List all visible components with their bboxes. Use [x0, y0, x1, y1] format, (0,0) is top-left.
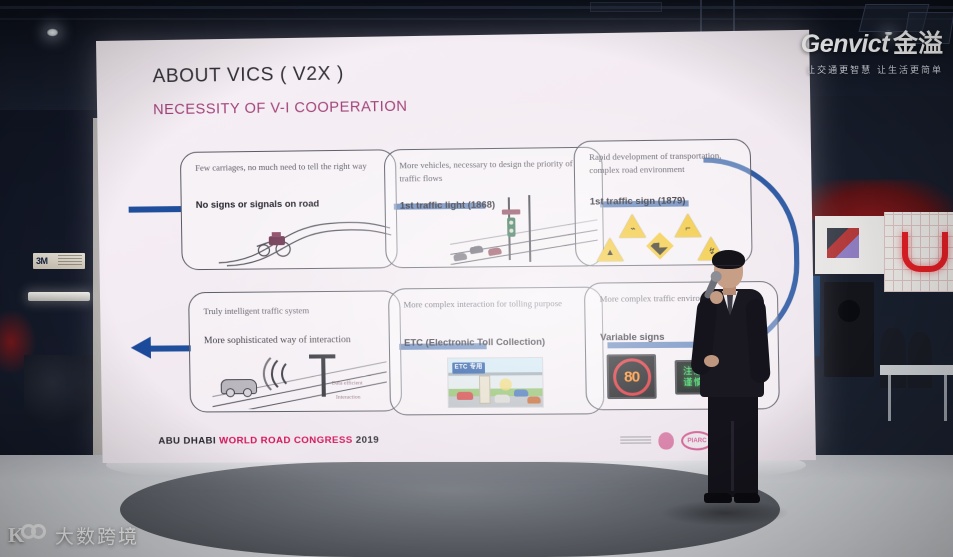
brand-name: Genvict金溢	[801, 24, 943, 60]
brand-tagline: 让交通更智慧 让生活更简单	[801, 63, 943, 76]
warning-sign-triangle: ⌁	[619, 214, 646, 238]
flow-node-6: Truly intelligent traffic system More so…	[188, 290, 402, 412]
plaza-light	[499, 378, 511, 390]
warning-sign-triangle: ▲	[597, 238, 624, 262]
traffic-light-lamp	[509, 221, 513, 225]
roadside-unit-antenna	[309, 354, 335, 358]
speaker-presenter	[692, 253, 776, 511]
flow-node-1: Few carriages, no much need to tell the …	[180, 149, 398, 270]
ceiling-panel	[590, 2, 662, 12]
sign-pictogram: ▲	[602, 247, 619, 258]
vintage-car	[469, 245, 483, 254]
speaker-gesturing-hand	[704, 355, 719, 367]
watermark-text: 大数跨境	[55, 522, 139, 549]
speaker-shoe	[704, 493, 732, 503]
flow-node-3-caption: Rapid development of transportation, com…	[589, 149, 740, 178]
roadside-unit-pole	[321, 354, 326, 396]
flow-node-5: More complex interaction for tolling pur…	[388, 287, 604, 416]
speed-limit-ring: 80	[612, 358, 651, 396]
signal-wave	[262, 352, 315, 398]
booth-equipment	[24, 355, 96, 425]
winding-road-icon	[216, 211, 393, 267]
v2i-illustration: Data efficient Interaction	[204, 352, 393, 410]
traffic-light-lamp	[509, 229, 513, 233]
footer-prefix: ABU DHABI	[158, 435, 219, 446]
toll-lane-car	[514, 389, 528, 396]
ceiling-truss	[0, 6, 953, 9]
traffic-light-head	[507, 218, 515, 237]
audience-person	[908, 332, 932, 388]
flow-node-2-caption: More vehicles, necessary to design the p…	[399, 157, 591, 186]
booth-banner-right	[884, 212, 953, 292]
genvict-brand-overlay: Genvict金溢 让交通更智慧 让生活更简单	[801, 24, 943, 76]
flow-node-2: More vehicles, necessary to design the p…	[384, 147, 604, 269]
brand-name-cn: 金溢	[893, 29, 943, 58]
etc-lane-sign-label: ETC 专用	[452, 362, 485, 373]
etc-toll-plaza-photo: ETC 专用	[447, 357, 544, 408]
vintage-car	[453, 252, 467, 261]
watermark-logo-icon: K	[8, 523, 46, 549]
slide-footer: ABU DHABI WORLD ROAD CONGRESS 2019	[158, 435, 379, 447]
toll-lane-car	[457, 392, 473, 400]
booth-panel-right	[815, 216, 885, 274]
brand-name-en: Genvict	[801, 30, 889, 58]
toll-booth	[479, 375, 491, 403]
toll-lane-car	[527, 396, 540, 403]
flow-node-4-headline: Variable signs	[600, 332, 664, 343]
table-leg	[888, 375, 891, 421]
sponsor-crest-logo	[658, 432, 674, 449]
flow-connector-in	[129, 206, 181, 213]
flow-connector-out	[149, 345, 191, 351]
toll-lane-car	[495, 395, 510, 403]
booth-table	[880, 365, 953, 375]
flow-node-5-caption: More complex interaction for tolling pur…	[403, 297, 591, 312]
slide-subtitle: NECESSITY OF V-I COOPERATION	[153, 99, 408, 119]
flow-arrow-end	[131, 337, 151, 359]
diagram-note-2: Interaction	[336, 394, 361, 400]
speaker-mic-hand	[710, 291, 723, 304]
speed-limit-value: 80	[624, 368, 639, 385]
booth-sign-texture	[58, 255, 82, 266]
booth-sign-3m: 3M	[33, 253, 85, 269]
ceiling-truss-secondary	[0, 18, 953, 20]
carriage-illustration	[216, 211, 393, 267]
flow-node-3: Rapid development of transportation, com…	[573, 139, 752, 267]
sign-pictogram: ⌁	[624, 223, 641, 234]
flow-node-3-headline: 1st traffic sign (1879)	[590, 195, 686, 206]
diagram-note-1: Data efficient	[332, 380, 363, 386]
warning-sign-diamond	[646, 232, 674, 259]
flow-node-5-headline: ETC (Electronic Toll Collection)	[404, 337, 545, 348]
flow-node-6-caption: Truly intelligent traffic system	[203, 304, 389, 319]
variable-speed-limit-sign: 80	[607, 354, 657, 399]
speaker-leg-gap	[731, 421, 734, 491]
warning-sign-triangle: ⌐	[674, 213, 701, 237]
booth-light-bar	[28, 292, 90, 301]
speaker-shoe	[734, 493, 760, 503]
booth-poster-image	[827, 228, 859, 258]
sign-pictogram	[650, 237, 669, 256]
signal-crossbar	[502, 209, 520, 214]
slide-title: ABOUT VICS ( V2X )	[152, 63, 344, 88]
sponsor-wordmark	[620, 436, 651, 445]
site-watermark: K 大数跨境	[8, 522, 139, 549]
pa-speaker-cabinet	[824, 282, 874, 377]
red-logo-mark	[902, 232, 948, 272]
photo-scene: 3M ABOUT VICS ( V2X ) NECESSITY OF V-I C…	[0, 0, 953, 557]
flow-node-1-caption: Few carriages, no much need to tell the …	[195, 159, 385, 175]
footer-highlight: WORLD ROAD CONGRESS	[219, 435, 353, 447]
sign-pictogram: ⌐	[680, 223, 697, 234]
footer-suffix: 2019	[353, 435, 380, 446]
audience-person	[880, 328, 906, 388]
table-leg	[944, 375, 947, 421]
etc-lane-sign: ETC 专用	[452, 362, 485, 373]
flow-node-6-headline: More sophisticated way of interaction	[204, 334, 351, 346]
watermark-ring-icon	[31, 524, 46, 539]
connected-vehicle	[221, 379, 257, 394]
traffic-light-pole	[528, 195, 531, 262]
flow-node-1-headline: No signs or signals on road	[196, 198, 320, 209]
ceiling-spotlight	[46, 28, 59, 37]
